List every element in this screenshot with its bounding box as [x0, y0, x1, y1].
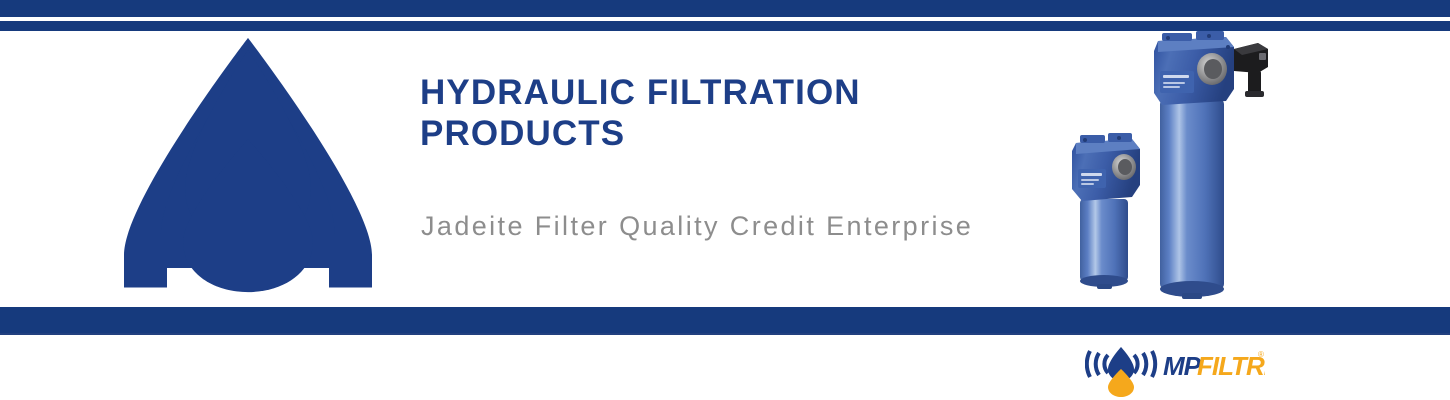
brand-name-secondary: FILTRI: [1197, 351, 1265, 381]
page-title: HYDRAULIC FILTRATION PRODUCTS: [420, 72, 1020, 154]
bottom-hairline: [0, 333, 1450, 335]
top-rule-primary: [0, 0, 1450, 17]
subtitle-tagline: Jadeite Filter Quality Credit Enterprise: [421, 210, 973, 242]
hydraulic-filter-pair-photo: [1062, 27, 1294, 309]
bottom-bar: [0, 307, 1450, 333]
registered-mark: ®: [1258, 350, 1264, 359]
brand-name-primary: MP: [1163, 351, 1202, 381]
hydraulic-filtration-banner: HYDRAULIC FILTRATION PRODUCTS Jadeite Fi…: [0, 0, 1450, 400]
mp-filtri-logo: MP FILTRI ®: [1085, 339, 1265, 397]
water-droplet-ripple-emblem: [123, 38, 373, 300]
headline-block: HYDRAULIC FILTRATION PRODUCTS: [420, 72, 1020, 154]
